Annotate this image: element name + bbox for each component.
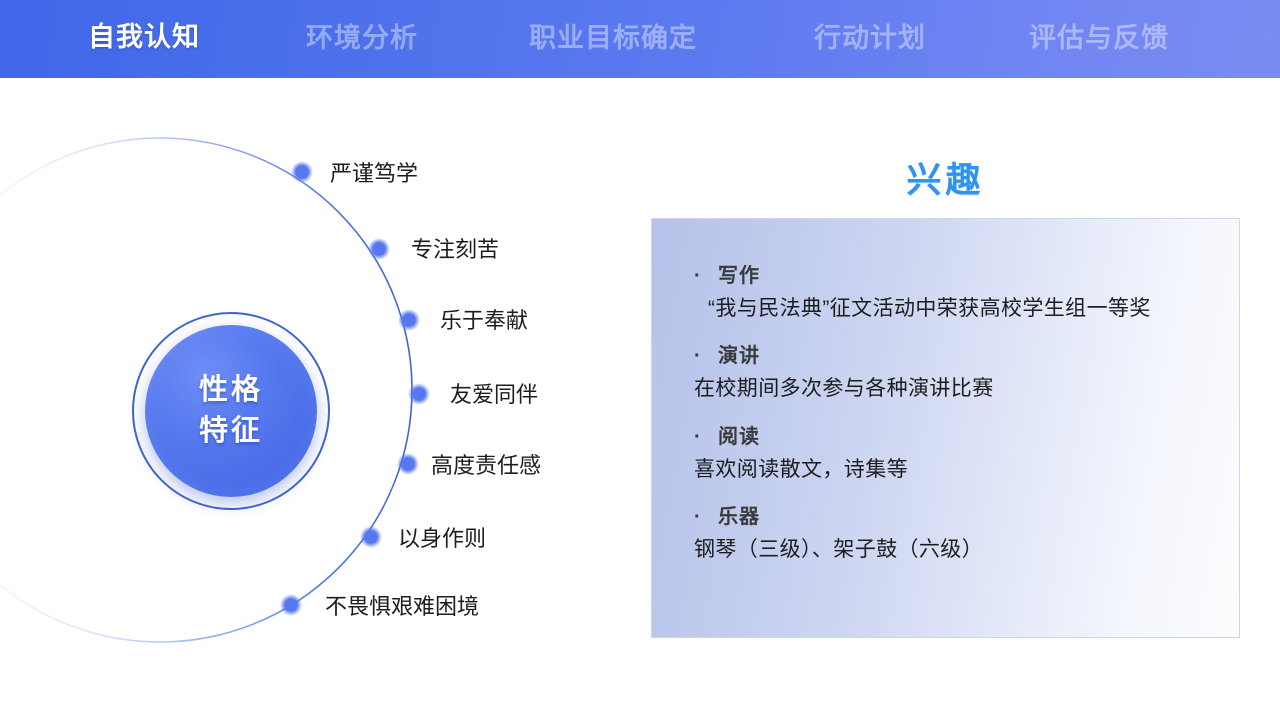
- interest-panel: · 写作 “我与民法典”征文活动中荣获高校学生组一等奖 · 演讲 在校期间多次参…: [651, 218, 1240, 638]
- bullet-icon: ·: [694, 507, 712, 527]
- interest-section-title: 兴趣: [651, 152, 1240, 203]
- interest-item-desc: 钢琴（三级）、架子鼓（六级）: [694, 536, 1239, 563]
- bullet-icon: ·: [694, 346, 712, 366]
- interest-item-name: 写作: [718, 259, 760, 288]
- interest-list: · 写作 “我与民法典”征文活动中荣获高校学生组一等奖 · 演讲 在校期间多次参…: [652, 219, 1239, 563]
- nav-item-career-goal[interactable]: 职业目标确定: [529, 25, 697, 52]
- orbit-label-yanjin-duxue[interactable]: 严谨笃学: [330, 163, 418, 185]
- interest-item-heading: · 乐器: [694, 500, 1239, 529]
- bullet-icon: ·: [694, 266, 712, 286]
- nav-item-action-plan[interactable]: 行动计划: [814, 25, 926, 52]
- interest-item-desc: 在校期间多次参与各种演讲比赛: [694, 375, 1239, 402]
- interest-item-name: 演讲: [718, 339, 760, 368]
- interest-item-heading: · 写作: [694, 259, 1239, 288]
- nav-item-evaluation-feedback[interactable]: 评估与反馈: [1029, 25, 1169, 52]
- interest-item-desc: 喜欢阅读散文，诗集等: [694, 456, 1239, 483]
- interest-item-desc: “我与民法典”征文活动中荣获高校学生组一等奖: [708, 295, 1239, 322]
- interest-item-writing: · 写作 “我与民法典”征文活动中荣获高校学生组一等奖: [694, 259, 1239, 322]
- nav-item-environment-analysis[interactable]: 环境分析: [306, 25, 418, 52]
- center-label-line1: 性格: [199, 370, 263, 411]
- top-navigation-bar: 自我认知 环境分析 职业目标确定 行动计划 评估与反馈: [0, 0, 1280, 78]
- center-label-line2: 特征: [199, 411, 263, 452]
- personality-orbit-diagram: 性格 特征 严谨笃学 专注刻苦 乐于奉献 友爱同伴 高度责任感 以身作则 不畏惧…: [0, 78, 640, 720]
- interest-item-heading: · 阅读: [694, 420, 1239, 449]
- orbit-label-yishen-zuoze[interactable]: 以身作则: [398, 528, 486, 550]
- orbit-label-youai-tongban[interactable]: 友爱同伴: [450, 384, 538, 406]
- nav-item-self-awareness[interactable]: 自我认知: [88, 24, 200, 51]
- interest-item-reading: · 阅读 喜欢阅读散文，诗集等: [694, 420, 1239, 483]
- orbit-label-leyu-fengxian[interactable]: 乐于奉献: [440, 310, 528, 332]
- interest-item-instrument: · 乐器 钢琴（三级）、架子鼓（六级）: [694, 500, 1239, 563]
- interest-item-name: 乐器: [718, 500, 760, 529]
- interest-item-name: 阅读: [718, 420, 760, 449]
- orbit-label-zhuanzhu-keku[interactable]: 专注刻苦: [411, 239, 499, 261]
- center-circle-personality[interactable]: 性格 特征: [145, 325, 317, 497]
- interest-item-heading: · 演讲: [694, 339, 1239, 368]
- interest-item-speech: · 演讲 在校期间多次参与各种演讲比赛: [694, 339, 1239, 402]
- bullet-icon: ·: [694, 427, 712, 447]
- slide-canvas: 自我认知 环境分析 职业目标确定 行动计划 评估与反馈: [0, 0, 1280, 720]
- orbit-label-buweiju-jiannan[interactable]: 不畏惧艰难困境: [325, 596, 479, 618]
- orbit-label-gaodu-zerengan[interactable]: 高度责任感: [431, 455, 541, 477]
